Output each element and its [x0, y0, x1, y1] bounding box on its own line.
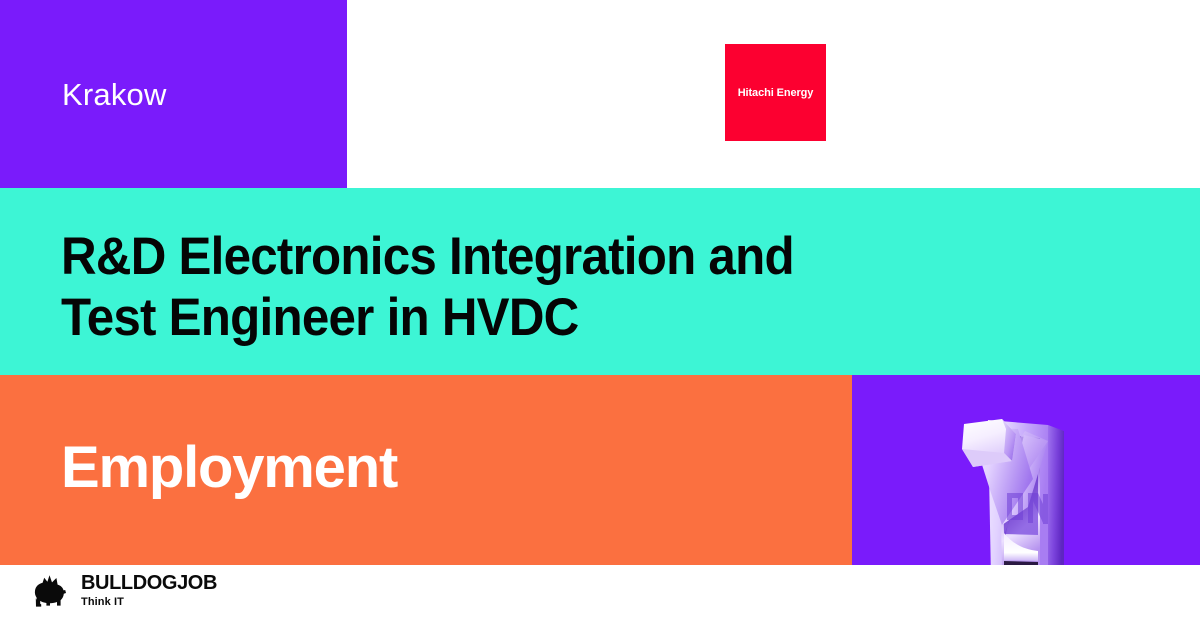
bulldog-silhouette-icon: [29, 572, 71, 610]
company-logo-text: Hitachi Energy: [738, 87, 814, 99]
brand-tagline: Think IT: [81, 597, 217, 608]
company-logo: Hitachi Energy: [725, 44, 826, 141]
brand-name: BULLDOGJOB: [81, 573, 217, 593]
footer-band: BULLDOGJOB Think IT: [0, 565, 1200, 628]
job-title: R&D Electronics Integration and Test Eng…: [61, 226, 898, 349]
job-offer-card: Krakow Hitachi Energy R&D Electronics In…: [0, 0, 1200, 628]
header-band: Krakow Hitachi Energy: [0, 0, 1200, 188]
brand-text: BULLDOGJOB Think IT: [81, 573, 217, 610]
employment-type-label: Employment: [61, 438, 397, 499]
job-title-band: R&D Electronics Integration and Test Eng…: [0, 188, 1200, 375]
illustration-panel: [852, 375, 1200, 565]
employment-type-band: Employment: [0, 375, 852, 565]
location-block: Krakow: [0, 0, 347, 188]
bulldogjob-brand[interactable]: BULLDOGJOB Think IT: [29, 572, 217, 610]
location-label: Krakow: [62, 78, 167, 112]
